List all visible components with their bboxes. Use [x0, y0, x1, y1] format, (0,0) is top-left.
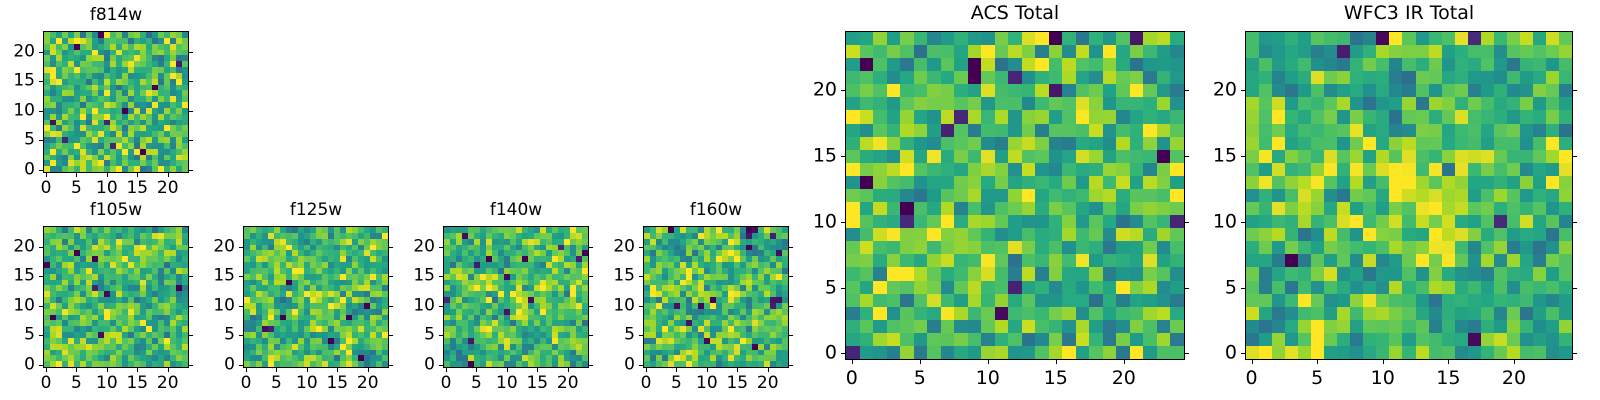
heatmap-wfc3_ir_total — [1246, 32, 1572, 359]
axes-wfc3_ir_total — [1245, 31, 1573, 360]
panel-title-wfc3_ir_total: WFC3 IR Total — [1245, 5, 1573, 22]
ytick-label-wfc3_ir_total-15: 15 — [1165, 147, 1237, 166]
ytick-wfc3_ir_total-0 — [1241, 353, 1245, 354]
ytick-inner-wfc3_ir_total-5 — [1573, 288, 1577, 289]
xtick-wfc3_ir_total-0 — [1252, 360, 1253, 364]
xtick-label-wfc3_ir_total-5: 5 — [1311, 369, 1323, 388]
xtick-label-wfc3_ir_total-10: 10 — [1371, 369, 1395, 388]
xtick-label-wfc3_ir_total-15: 15 — [1436, 369, 1460, 388]
ytick-inner-wfc3_ir_total-10 — [1573, 222, 1577, 223]
ytick-label-wfc3_ir_total-0: 0 — [1165, 344, 1237, 363]
xtick-label-wfc3_ir_total-0: 0 — [1246, 369, 1258, 388]
ytick-wfc3_ir_total-20 — [1241, 90, 1245, 91]
xtick-wfc3_ir_total-10 — [1383, 360, 1384, 364]
ytick-label-wfc3_ir_total-5: 5 — [1165, 278, 1237, 297]
ytick-inner-wfc3_ir_total-0 — [1573, 353, 1577, 354]
figure-canvas: f814w0510152005101520f105w05101520051015… — [0, 0, 1600, 400]
ytick-label-wfc3_ir_total-10: 10 — [1165, 212, 1237, 231]
ytick-inner-wfc3_ir_total-20 — [1573, 90, 1577, 91]
panel-wfc3_ir_total: WFC3 IR Total0510152005101520 — [0, 0, 1600, 400]
ytick-wfc3_ir_total-5 — [1241, 288, 1245, 289]
xtick-wfc3_ir_total-5 — [1317, 360, 1318, 364]
xtick-wfc3_ir_total-15 — [1448, 360, 1449, 364]
ytick-label-wfc3_ir_total-20: 20 — [1165, 81, 1237, 100]
ytick-wfc3_ir_total-10 — [1241, 222, 1245, 223]
xtick-label-wfc3_ir_total-20: 20 — [1502, 369, 1526, 388]
xtick-wfc3_ir_total-20 — [1514, 360, 1515, 364]
ytick-wfc3_ir_total-15 — [1241, 156, 1245, 157]
ytick-inner-wfc3_ir_total-15 — [1573, 156, 1577, 157]
